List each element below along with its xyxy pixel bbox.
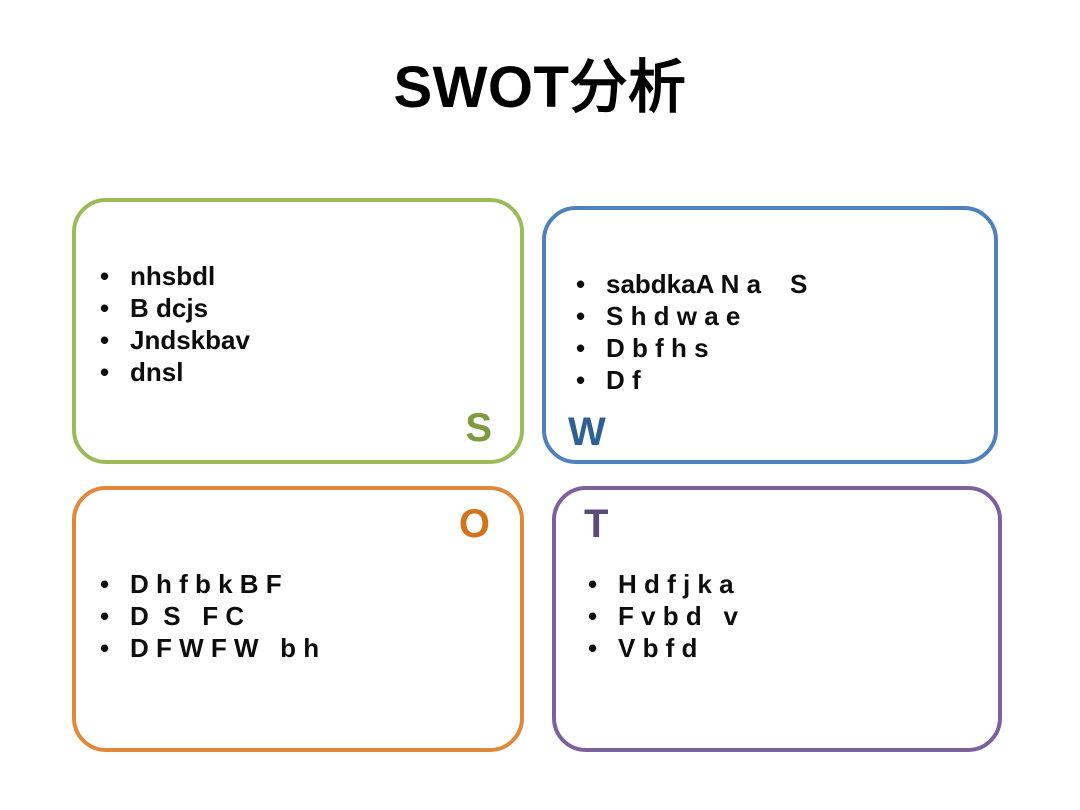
list-item: • D h f b k B F: [100, 568, 319, 600]
swot-slide: SWOT分析 • nhsbdl • B dcjs • Jndskbav •: [0, 0, 1080, 810]
quadrant-letter-o: O: [459, 504, 490, 544]
threats-bullet-list: • H d f j k a • F v b d v • V b f d: [588, 568, 738, 664]
strengths-bullet-list: • nhsbdl • B dcjs • Jndskbav • dnsl: [100, 260, 250, 388]
bullet-icon: •: [100, 292, 130, 324]
bullet-icon: •: [576, 300, 606, 332]
list-item-label: sabdkaA N a S: [606, 268, 807, 300]
quadrant-strengths[interactable]: • nhsbdl • B dcjs • Jndskbav • dnsl S: [72, 198, 524, 464]
bullet-icon: •: [576, 332, 606, 364]
list-item-label: V b f d: [618, 632, 697, 664]
list-item: • S h d w a e: [576, 300, 807, 332]
list-item-label: F v b d v: [618, 600, 738, 632]
bullet-icon: •: [576, 364, 606, 396]
quadrant-opportunities[interactable]: O • D h f b k B F • D S F C • D F W F W …: [72, 486, 524, 752]
bullet-icon: •: [588, 568, 618, 600]
quadrant-letter-t: T: [584, 504, 608, 544]
list-item: • B dcjs: [100, 292, 250, 324]
list-item: • D F W F W b h: [100, 632, 319, 664]
list-item-label: nhsbdl: [130, 260, 215, 292]
bullet-icon: •: [100, 600, 130, 632]
bullet-icon: •: [588, 600, 618, 632]
list-item-label: B dcjs: [130, 292, 208, 324]
swot-matrix: • nhsbdl • B dcjs • Jndskbav • dnsl S: [72, 198, 1008, 756]
list-item-label: D S F C: [130, 600, 244, 632]
page-title: SWOT分析: [0, 56, 1080, 120]
list-item-label: Jndskbav: [130, 324, 250, 356]
list-item-label: S h d w a e: [606, 300, 740, 332]
list-item-label: D b f h s: [606, 332, 709, 364]
list-item-label: H d f j k a: [618, 568, 734, 600]
list-item-label: D f: [606, 364, 641, 396]
list-item: • dnsl: [100, 356, 250, 388]
bullet-icon: •: [100, 260, 130, 292]
bullet-icon: •: [576, 268, 606, 300]
quadrant-letter-s: S: [465, 408, 492, 448]
list-item: • D S F C: [100, 600, 319, 632]
opportunities-bullet-list: • D h f b k B F • D S F C • D F W F W b …: [100, 568, 319, 664]
bullet-icon: •: [100, 568, 130, 600]
bullet-icon: •: [100, 324, 130, 356]
bullet-icon: •: [100, 356, 130, 388]
quadrant-threats[interactable]: T • H d f j k a • F v b d v • V b f d: [552, 486, 1002, 752]
list-item-label: D h f b k B F: [130, 568, 282, 600]
list-item: • sabdkaA N a S: [576, 268, 807, 300]
list-item: • Jndskbav: [100, 324, 250, 356]
bullet-icon: •: [100, 632, 130, 664]
list-item: • D f: [576, 364, 807, 396]
list-item: • H d f j k a: [588, 568, 738, 600]
list-item: • D b f h s: [576, 332, 807, 364]
quadrant-letter-w: W: [568, 412, 606, 452]
list-item-label: D F W F W b h: [130, 632, 319, 664]
list-item: • nhsbdl: [100, 260, 250, 292]
list-item: • F v b d v: [588, 600, 738, 632]
list-item-label: dnsl: [130, 356, 183, 388]
list-item: • V b f d: [588, 632, 738, 664]
weaknesses-bullet-list: • sabdkaA N a S • S h d w a e • D b f h …: [576, 268, 807, 396]
quadrant-weaknesses[interactable]: • sabdkaA N a S • S h d w a e • D b f h …: [542, 206, 998, 464]
bullet-icon: •: [588, 632, 618, 664]
